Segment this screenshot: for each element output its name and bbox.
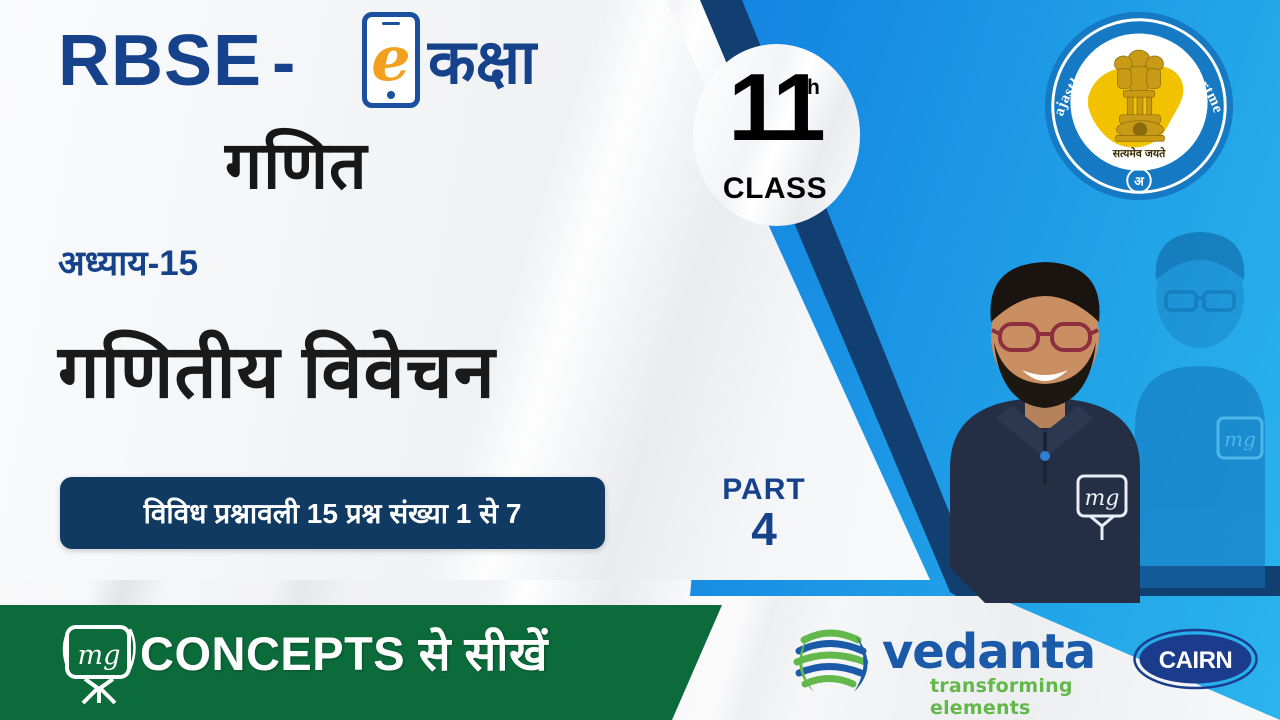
vedanta-wordmark: vedanta xyxy=(882,624,1095,680)
brand-rbse-text: RBSE xyxy=(58,20,262,102)
emblem-bottom-glyph: अ xyxy=(1134,173,1145,188)
svg-text:mg: mg xyxy=(1224,427,1256,451)
part-number: 4 xyxy=(694,502,834,556)
smartphone-icon: e xyxy=(362,12,420,108)
topic-pill: विविध प्रश्नावली 15 प्रश्न संख्या 1 से 7 xyxy=(60,477,605,549)
footer-banner-text: CONCEPTS से सीखें xyxy=(140,620,548,684)
cairn-wordmark: CAIRN xyxy=(1159,647,1233,674)
cairn-oval-icon: CAIRN xyxy=(1133,628,1258,690)
topic-pill-label: विविध प्रश्नावली 15 प्रश्न संख्या 1 से 7 xyxy=(144,494,522,532)
phone-home-button-icon xyxy=(387,91,395,99)
shirt-mg-logo: mg xyxy=(1085,486,1120,511)
thumbnail-canvas: RBSE - e कक्षा गणित अध्याय-15 गणितीय विव… xyxy=(0,0,1280,720)
class-badge-number: 11 xyxy=(700,60,850,156)
chapter-number-label: अध्याय-15 xyxy=(58,239,198,286)
instructor-front: mg xyxy=(950,262,1140,603)
instructor-back: mg xyxy=(1135,232,1265,588)
subject-title: गणित xyxy=(225,118,368,208)
sponsor-vedanta: vedanta transforming elements xyxy=(790,618,1100,704)
brand-kaksha-text: कक्षा xyxy=(428,18,536,102)
mg-easel-logo-icon: mg xyxy=(58,619,140,707)
instructors-photo: mg xyxy=(930,218,1280,603)
emblem-motto: सत्यमेव जयते xyxy=(1112,147,1166,160)
brand-e-letter: e xyxy=(371,28,410,90)
rajasthan-education-department-emblem-icon: Rajasthan Education Department सत्यमेव ज… xyxy=(1041,8,1237,204)
class-badge-ordinal: th xyxy=(800,76,820,100)
vedanta-tagline: transforming elements xyxy=(930,675,1100,719)
brand-dash: - xyxy=(272,22,295,102)
class-badge-word: CLASS xyxy=(700,172,850,206)
vedanta-globe-icon xyxy=(790,620,876,700)
chapter-title: गणितीय विवेचन xyxy=(58,318,496,419)
svg-text:mg: mg xyxy=(78,640,121,671)
